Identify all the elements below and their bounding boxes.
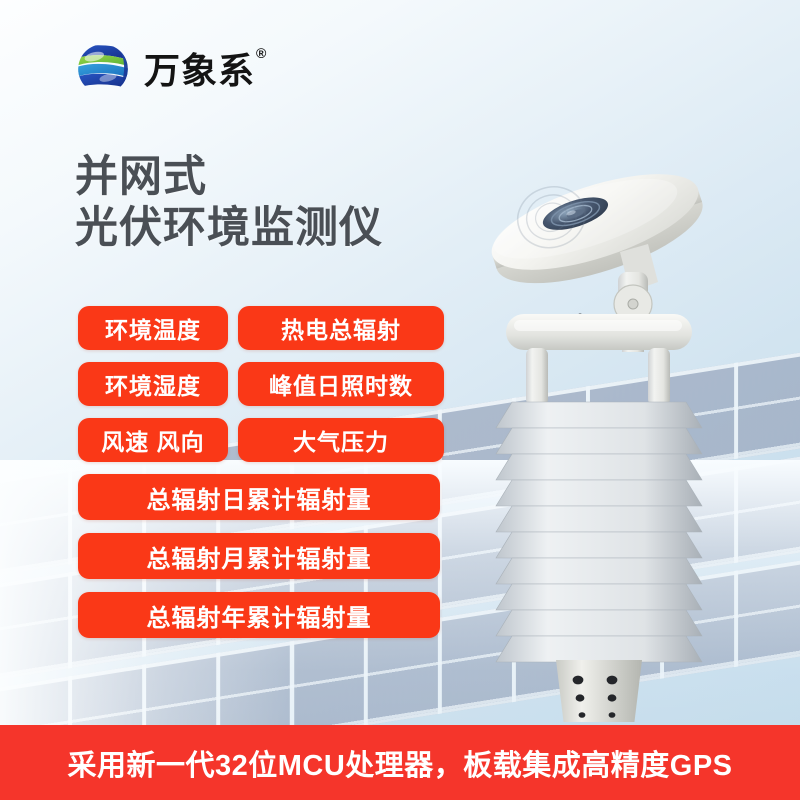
feature-tag-list: 环境温度 热电总辐射 环境湿度 峰值日照时数 风速 风向 大气压力 总辐射日累计… bbox=[78, 306, 444, 651]
product-image bbox=[470, 132, 730, 722]
sensor-base-cylinder bbox=[556, 660, 642, 722]
feature-tag-ambient-temperature[interactable]: 环境温度 bbox=[78, 306, 228, 350]
feature-tag-row: 环境温度 热电总辐射 bbox=[78, 306, 444, 350]
title-line-1: 并网式 bbox=[75, 152, 383, 203]
shield-post bbox=[648, 348, 670, 406]
radiation-shield-louvers bbox=[496, 402, 702, 662]
feature-tag-daily-cumulative-radiation[interactable]: 总辐射日累计辐射量 bbox=[78, 474, 440, 520]
pyranometer-disc bbox=[477, 143, 713, 303]
feature-tag-wind-speed-direction[interactable]: 风速 风向 bbox=[78, 418, 228, 462]
feature-tag-yearly-cumulative-radiation[interactable]: 总辐射年累计辐射量 bbox=[78, 592, 440, 638]
feature-tag-row: 环境湿度 峰值日照时数 bbox=[78, 362, 444, 406]
shield-post bbox=[526, 348, 548, 406]
feature-tag-row: 总辐射日累计辐射量 bbox=[78, 474, 444, 520]
title-line-2: 光伏环境监测仪 bbox=[75, 203, 383, 254]
bottom-banner: 采用新一代32位MCU处理器，板载集成高精度GPS bbox=[0, 725, 800, 800]
product-poster: 万象系® 并网式 光伏环境监测仪 环境温度 热电总辐射 环境湿度 峰值日照时数 … bbox=[0, 0, 800, 800]
brand-logo: 万象系® bbox=[72, 38, 266, 100]
feature-tag-peak-sunshine-hours[interactable]: 峰值日照时数 bbox=[238, 362, 444, 406]
shield-top-cap bbox=[506, 314, 692, 406]
banner-text: 采用新一代32位MCU处理器，板载集成高精度GPS bbox=[67, 742, 732, 784]
feature-tag-total-pyroelectric-radiation[interactable]: 热电总辐射 bbox=[238, 306, 444, 350]
feature-tag-monthly-cumulative-radiation[interactable]: 总辐射月累计辐射量 bbox=[78, 533, 440, 579]
feature-tag-row: 总辐射月累计辐射量 bbox=[78, 533, 444, 579]
globe-swirl-logo-icon bbox=[72, 38, 134, 100]
page-title: 并网式 光伏环境监测仪 bbox=[75, 152, 383, 253]
feature-tag-ambient-humidity[interactable]: 环境湿度 bbox=[78, 362, 228, 406]
registered-trademark-icon: ® bbox=[256, 45, 267, 61]
feature-tag-row: 总辐射年累计辐射量 bbox=[78, 592, 444, 638]
brand-name: 万象系® bbox=[144, 53, 266, 89]
feature-tag-row: 风速 风向 大气压力 bbox=[78, 418, 444, 462]
feature-tag-atmospheric-pressure[interactable]: 大气压力 bbox=[238, 418, 444, 462]
